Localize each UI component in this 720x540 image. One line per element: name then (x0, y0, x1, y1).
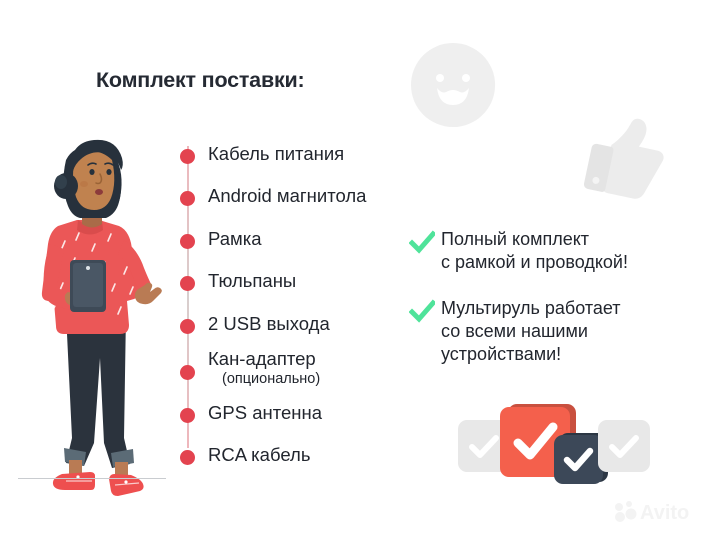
bullet-dot-icon (180, 234, 195, 249)
avito-watermark: Avito (612, 498, 708, 524)
list-item-label: Тюльпаны (208, 269, 296, 292)
list-item-sub-label: (опционально) (208, 370, 320, 388)
list-item-label: RCA кабель (208, 443, 310, 466)
list-item-label: Рамка (208, 227, 262, 250)
highlight-multiwheel: Мультируль работает со всеми нашими устр… (409, 297, 689, 366)
list-item-label: 2 USB выхода (208, 312, 330, 335)
avito-watermark-text: Avito (640, 502, 689, 524)
list-item-label: Android магнитола (208, 184, 366, 207)
check-icon (409, 230, 435, 256)
checkbox-tiles-group (458, 402, 648, 494)
promo-canvas: Комплект поставки: (0, 0, 720, 540)
list-item-main-label: Кан-адаптер (208, 348, 316, 369)
highlight-text: Мультируль работает со всеми нашими устр… (441, 297, 621, 366)
bullet-dot-icon (180, 191, 195, 206)
woman-pointing-with-tablet-illustration (14, 108, 179, 508)
bullet-dot-icon (180, 408, 195, 423)
checkbox-tile-grey-right (598, 420, 650, 472)
bullet-dot-icon (180, 319, 195, 334)
bullet-dot-icon (180, 450, 195, 465)
highlight-text: Полный комплект с рамкой и проводкой! (441, 228, 628, 274)
bullet-dot-icon (180, 276, 195, 291)
list-item-label: Кабель питания (208, 142, 344, 165)
list-item-label: GPS антенна (208, 401, 322, 424)
thumbs-up-icon (575, 112, 675, 207)
ground-line (18, 478, 166, 479)
list-item-label: Кан-адаптер (опционально) (208, 347, 320, 388)
bullet-dot-icon (180, 365, 195, 380)
bullet-dot-icon (180, 149, 195, 164)
checkbox-tile-dark (554, 435, 603, 484)
highlight-full-kit: Полный комплект с рамкой и проводкой! (409, 228, 689, 274)
smiley-face-icon (408, 40, 498, 130)
check-icon (409, 299, 435, 325)
page-title: Комплект поставки: (96, 68, 305, 93)
